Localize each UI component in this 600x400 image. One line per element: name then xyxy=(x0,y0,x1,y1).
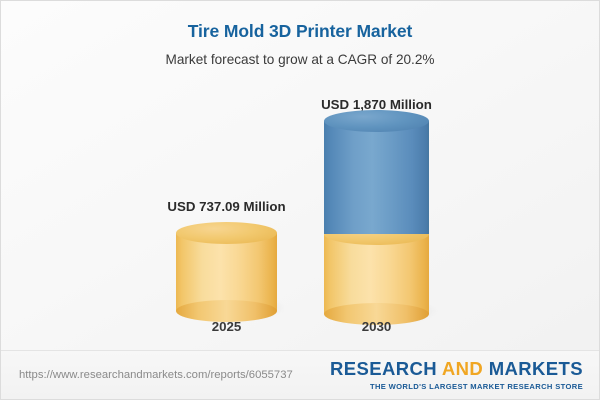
cylinder-top-cap xyxy=(176,222,277,244)
cylinder-segment-base-2025 xyxy=(176,233,277,311)
logo-word-and: AND xyxy=(442,358,483,379)
cylinder-2030[interactable] xyxy=(324,121,429,314)
bar-group-2030[interactable]: USD 1,870 Million 2030 xyxy=(324,1,429,346)
bar-group-2025[interactable]: USD 737.09 Million 2025 xyxy=(176,1,277,346)
chart-plot-area: USD 737.09 Million 2025 USD 1,870 Millio… xyxy=(1,1,600,346)
report-url[interactable]: https://www.researchandmarkets.com/repor… xyxy=(19,369,293,381)
cylinder-body xyxy=(324,121,429,234)
chart-footer: https://www.researchandmarkets.com/repor… xyxy=(1,350,599,399)
cylinder-top-cap xyxy=(324,110,429,132)
logo-word-research: RESEARCH xyxy=(330,358,437,379)
chart-card: Tire Mold 3D Printer Market Market forec… xyxy=(0,0,600,400)
cylinder-2025[interactable] xyxy=(176,233,277,311)
bar-value-label-2025: USD 737.09 Million xyxy=(97,199,357,214)
cylinder-segment-base-2030 xyxy=(324,234,429,314)
logo-tagline: THE WORLD'S LARGEST MARKET RESEARCH STOR… xyxy=(330,382,583,390)
logo-word-markets: MARKETS xyxy=(489,358,583,379)
bar-category-label-2030: 2030 xyxy=(247,319,507,334)
research-and-markets-logo[interactable]: RESEARCH AND MARKETS THE WORLD'S LARGEST… xyxy=(330,360,583,390)
logo-wordmark: RESEARCH AND MARKETS xyxy=(330,360,583,379)
cylinder-body xyxy=(324,234,429,314)
cylinder-segment-growth-2030 xyxy=(324,121,429,234)
